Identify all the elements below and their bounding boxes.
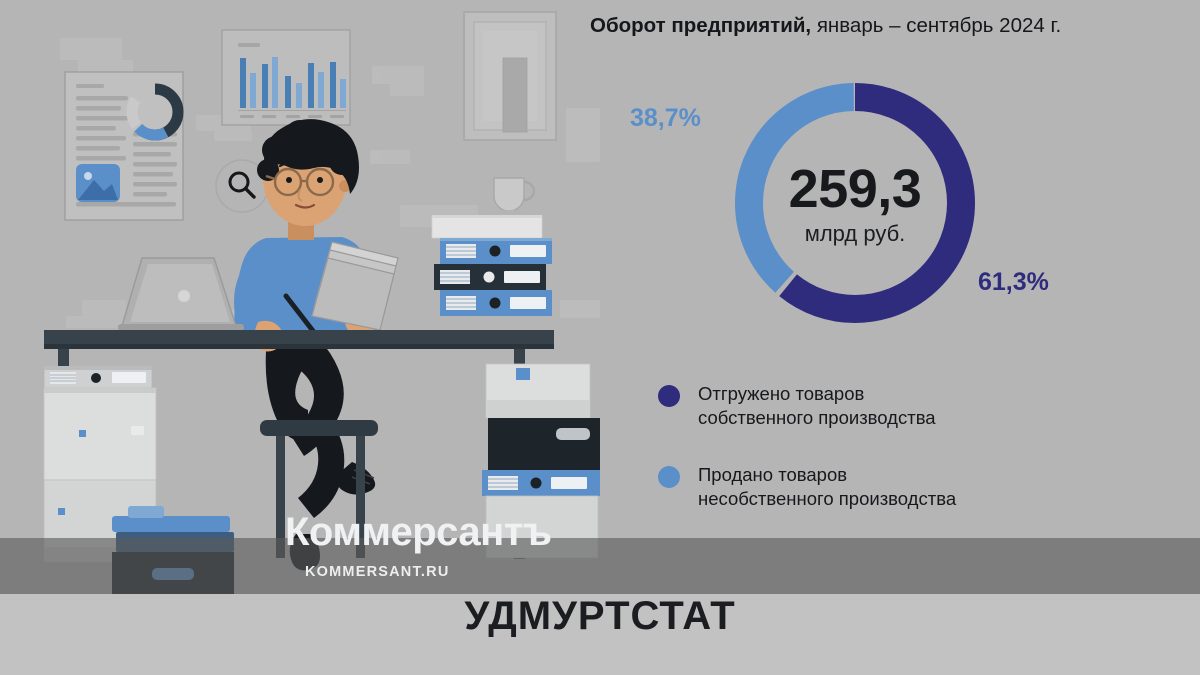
kommersant-logo: Коммерсантъ bbox=[285, 512, 552, 552]
legend-label-non-own-production: Продано товаров несобственного производс… bbox=[698, 463, 956, 511]
wall-poster-document bbox=[65, 72, 187, 220]
page-title-bold: Оборот предприятий, bbox=[590, 14, 811, 37]
donut-chart: 259,3 млрд руб. bbox=[720, 68, 990, 338]
binder-stack bbox=[432, 215, 552, 316]
kommersant-url: KOMMERSANT.RU bbox=[305, 565, 450, 580]
translucent-band bbox=[0, 538, 1200, 594]
wall-picture-frame bbox=[464, 12, 556, 140]
wall-poster-bar-chart bbox=[222, 30, 350, 125]
legend-item-non-own-production: Продано товаров несобственного производс… bbox=[658, 463, 1178, 511]
percent-label-light: 38,7% bbox=[630, 104, 701, 133]
legend-item-own-production: Отгружено товаров собственного производс… bbox=[658, 382, 1178, 430]
legend-color-dot-dark bbox=[658, 385, 680, 407]
page-title: Оборот предприятий, январь – сентябрь 20… bbox=[590, 14, 1190, 38]
infographic-canvas: Оборот предприятий, январь – сентябрь 20… bbox=[0, 0, 1200, 675]
legend-label-own-production: Отгружено товаров собственного производс… bbox=[698, 382, 936, 430]
page-title-period: январь – сентябрь 2024 г. bbox=[811, 14, 1061, 37]
footer-source-title: УДМУРТСТАТ bbox=[0, 596, 1200, 636]
percent-label-dark: 61,3% bbox=[978, 268, 1049, 297]
image-placeholder-icon bbox=[76, 164, 120, 202]
chart-legend: Отгружено товаров собственного производс… bbox=[658, 382, 1178, 544]
legend-color-dot-light bbox=[658, 466, 680, 488]
